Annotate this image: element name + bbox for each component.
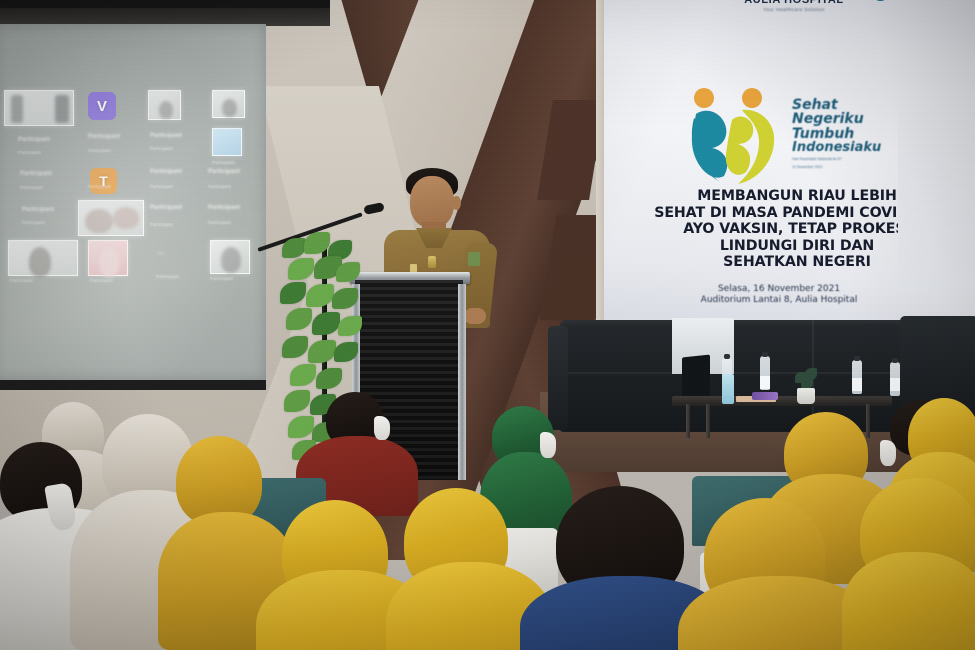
water-bottle — [852, 360, 862, 394]
water-bottle — [760, 356, 770, 390]
vc-participant-name: Participant — [150, 168, 182, 175]
hospital-tagline: Your Healthcare Solution — [604, 7, 975, 12]
logo-line-2: Negeriku — [792, 112, 881, 126]
water-bottle — [890, 362, 900, 396]
vc-tile-video — [212, 90, 245, 118]
banner-illustration — [898, 92, 975, 292]
coffee-table — [672, 396, 892, 406]
logo-line-1: Sehat — [792, 98, 881, 112]
table-leg — [866, 404, 870, 438]
vc-tile-video — [88, 240, 128, 276]
event-banner: AULIA HOSPITAL Your Healthcare Solution … — [604, 0, 975, 332]
vc-participant-name: Participant — [90, 278, 113, 366]
table-leg — [686, 404, 690, 438]
vc-tile-video — [8, 240, 78, 276]
logo-subtext-2: 12 November 2021 — [792, 165, 881, 170]
vc-participant-name: Participant — [20, 170, 52, 177]
vc-tile-video — [78, 200, 144, 236]
logo-line-3: Tumbuh — [792, 127, 881, 141]
speaker-ear — [452, 196, 461, 210]
vc-participant-name: Participant — [208, 168, 240, 175]
face-mask — [374, 416, 390, 440]
vc-participant-name: Participant — [150, 204, 182, 211]
table-purple-item — [752, 392, 778, 400]
speaker-hand — [464, 308, 486, 324]
logo-line-4: Indonesiaku — [792, 141, 881, 154]
face-mask — [880, 440, 896, 466]
sehat-negeriku-emblem — [680, 84, 788, 188]
projection-screen: V Participant Participant Participant Pa… — [0, 24, 266, 380]
speaker-insignia — [428, 256, 436, 268]
stage-sofa — [560, 320, 940, 432]
hand-sanitizer-bottle — [722, 374, 734, 404]
banner-venue: Auditorium Lantai 8, Aulia Hospital — [604, 295, 954, 306]
table-leg — [706, 404, 710, 438]
podium-rail-right — [458, 284, 466, 480]
vc-tile-video — [212, 128, 242, 156]
vc-participant-name: Participant — [156, 274, 179, 366]
vc-tile-video — [210, 240, 250, 274]
vc-participant-name: Participant — [18, 136, 50, 143]
vc-participant-name: Participant — [210, 276, 233, 366]
vc-participant-name: Participant — [10, 278, 33, 366]
logo-subtext-1: Hari Kesehatan Nasional ke-57 — [792, 157, 881, 162]
speaker-head — [410, 176, 454, 228]
vc-participant-name: Participant — [88, 133, 120, 140]
vc-participant-name: Participant — [22, 206, 54, 213]
audience-person-shoulders — [842, 552, 975, 650]
campaign-logo-words: Sehat Negeriku Tumbuh Indonesiaku Hari K… — [792, 98, 881, 171]
table-plant — [793, 368, 819, 404]
face-mask — [540, 432, 556, 458]
vc-participant-name: Participant — [208, 204, 240, 211]
banner-hospital-logo: AULIA HOSPITAL Your Healthcare Solution — [604, 0, 975, 12]
video-conference-grid: V Participant Participant Participant Pa… — [0, 90, 258, 355]
vc-participant-name: Participant — [150, 132, 182, 139]
vc-tile-video — [148, 90, 181, 120]
photograph-scene: V Participant Participant Participant Pa… — [0, 0, 975, 650]
speaker-shoulder-patch — [468, 252, 480, 266]
sofa-arm-left — [548, 326, 568, 430]
campaign-logo: Sehat Negeriku Tumbuh Indonesiaku Hari K… — [680, 84, 910, 192]
screen-bottom-bar — [0, 380, 266, 390]
hospital-name: AULIA HOSPITAL — [604, 0, 975, 6]
illustration-white-curve — [898, 92, 975, 292]
vc-participant-name: — — [158, 250, 164, 257]
vc-tile-video — [4, 90, 74, 126]
laptop — [682, 355, 710, 402]
ceiling-edge — [0, 0, 330, 8]
vc-tile-avatar-v: V — [88, 92, 116, 120]
